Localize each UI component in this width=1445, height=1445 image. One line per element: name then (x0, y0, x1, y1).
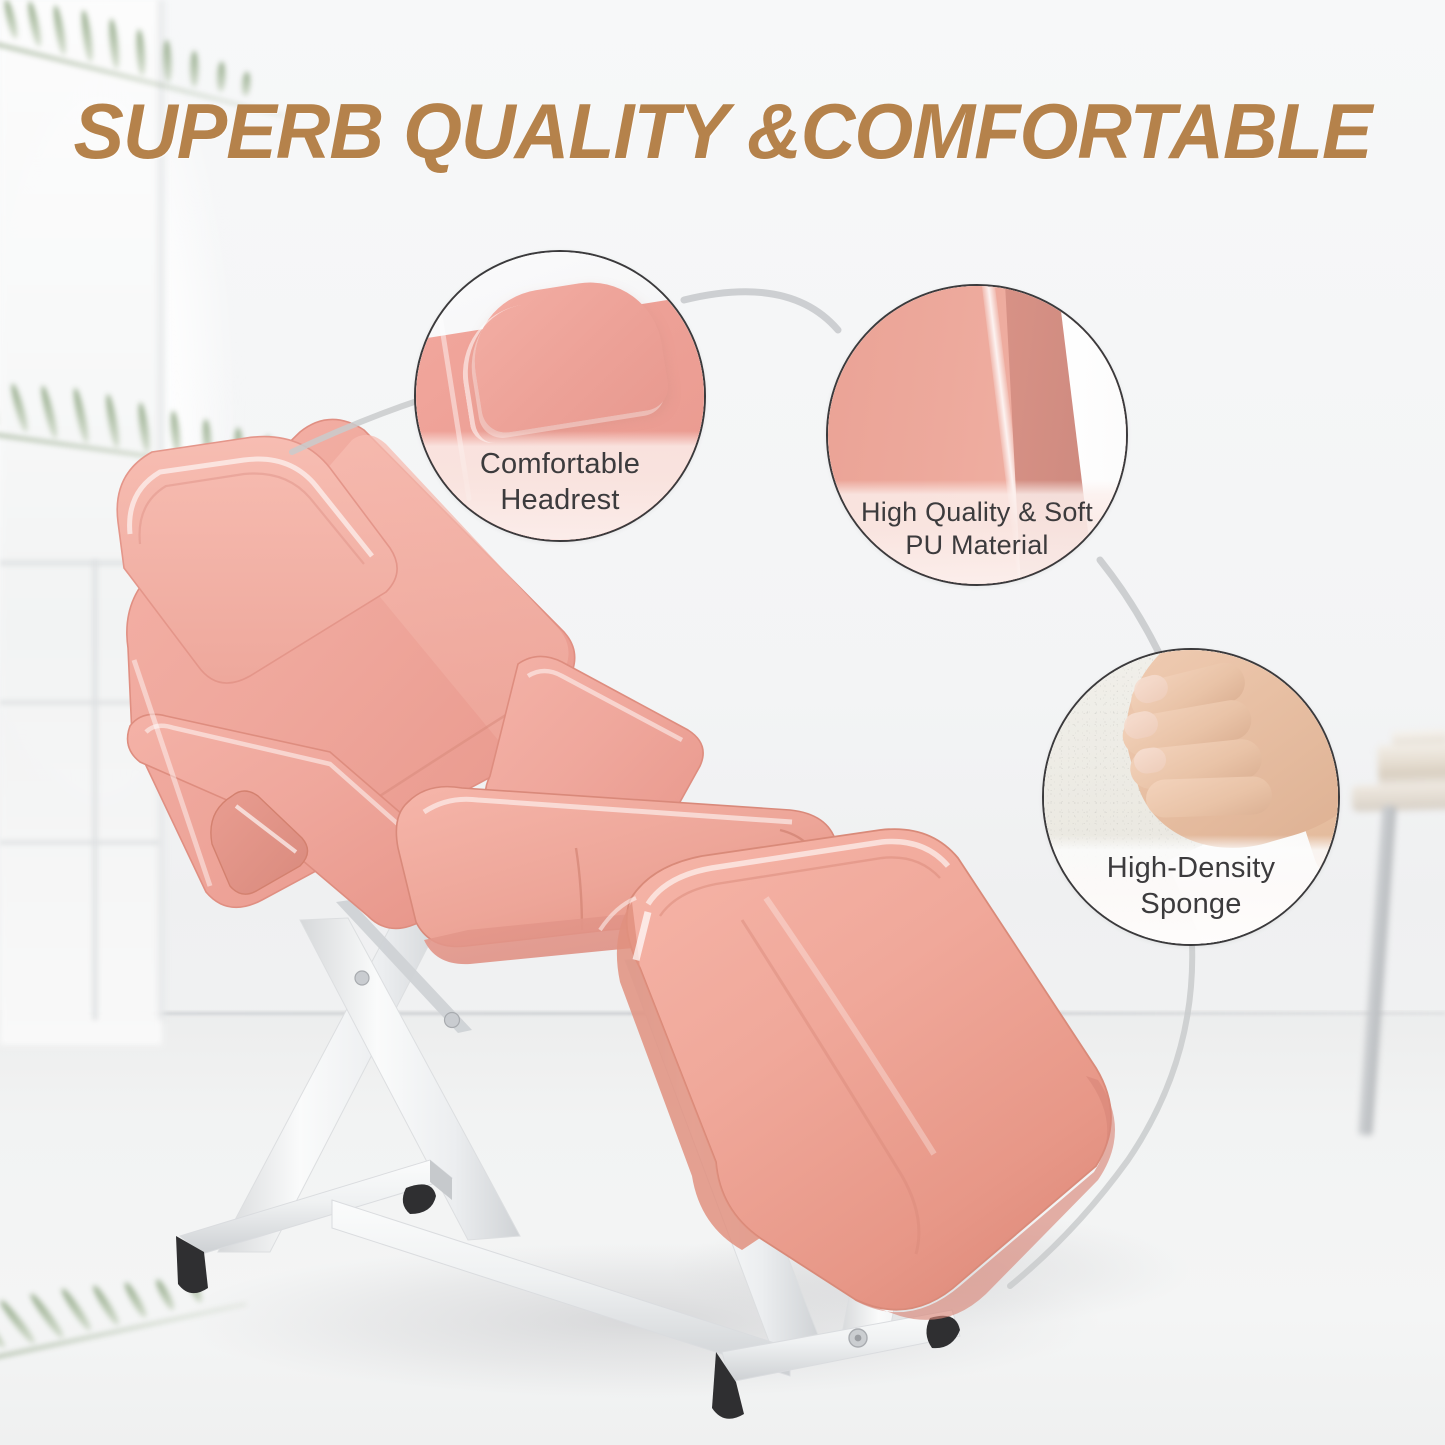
callout-caption: Comfortable Headrest (416, 431, 704, 540)
callout-comfortable-headrest[interactable]: Comfortable Headrest (414, 250, 706, 542)
product-marketing-image: SUPERB QUALITY &COMFORTABLE (0, 0, 1445, 1445)
callout-label-line1: Comfortable (416, 447, 704, 482)
callout-caption: High-Density Sponge (1044, 835, 1338, 944)
callout-label-line2: Headrest (416, 483, 704, 518)
callout-label-line1: High Quality & Soft (828, 496, 1126, 529)
callout-label-line2: PU Material (828, 529, 1126, 562)
callout-high-density-sponge[interactable]: High-Density Sponge (1042, 648, 1340, 946)
callout-label-line1: High-Density (1044, 851, 1338, 886)
callout-pu-material[interactable]: High Quality & Soft PU Material (826, 284, 1128, 586)
callout-caption: High Quality & Soft PU Material (828, 480, 1126, 584)
callout-label-line2: Sponge (1044, 887, 1338, 922)
